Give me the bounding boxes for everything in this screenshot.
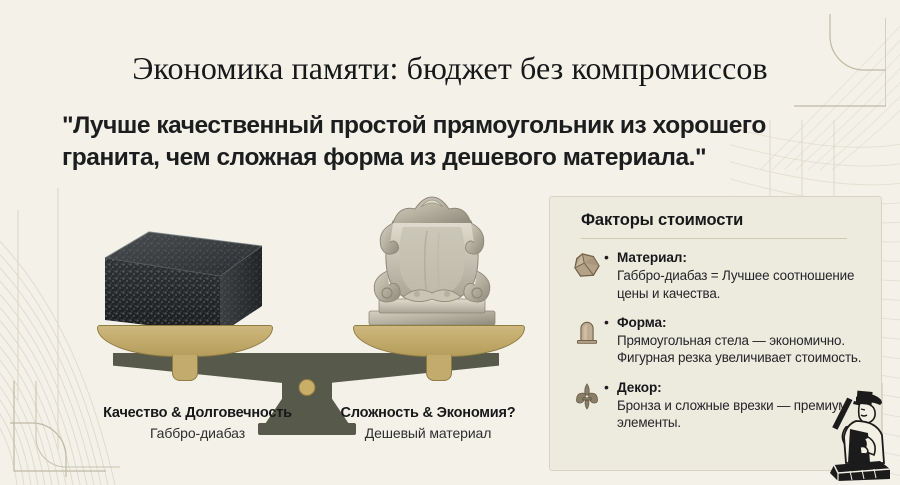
fulcrum-pivot [299,379,316,396]
scale-label-left-heading: Качество & Долговечность [80,405,315,421]
page-title: Экономика памяти: бюджет без компромиссо… [0,50,900,87]
factor-desc: Прямоугольная стела — экономично. Фигурн… [617,332,863,367]
balance-scale: Качество & Долговечность Габбро-диабаз С… [55,185,525,435]
scale-pan-right [353,325,525,357]
panel-divider [581,238,847,239]
pull-quote: "Лучше качественный простой прямоугольни… [62,110,852,175]
scale-pan-left [97,325,273,357]
stonemason-icon [816,385,894,483]
scale-label-right-heading: Сложность & Экономия? [313,405,543,421]
rock-icon [570,250,604,286]
slide-root: Экономика памяти: бюджет без компромиссо… [0,0,900,485]
granite-block-icon [101,228,266,338]
scale-label-left-sub: Габбро-диабаз [80,425,315,441]
factor-item: Материал: Габбро-диабаз = Лучшее соотнош… [570,250,863,302]
scale-label-right: Сложность & Экономия? Дешевый материал [313,405,543,441]
ornate-monument-icon [347,193,517,333]
scale-label-left: Качество & Долговечность Габбро-диабаз [80,405,315,441]
factor-desc: Габбро-диабаз = Лучшее соотношение цены … [617,267,863,302]
factor-term: Материал: [617,250,863,267]
fleur-de-lis-icon [570,380,604,416]
headstone-icon [570,315,604,351]
factor-item: Форма: Прямоугольная стела — экономично.… [570,315,863,367]
factor-term: Форма: [617,315,863,332]
panel-title: Факторы стоимости [570,211,863,230]
scale-label-right-sub: Дешевый материал [313,425,543,441]
